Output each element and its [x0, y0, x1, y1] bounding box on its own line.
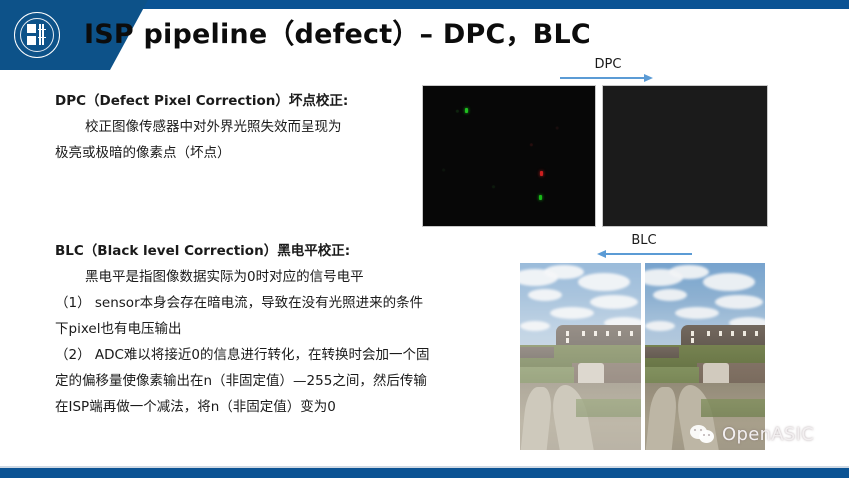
- dpc-arrow-label: DPC: [560, 57, 656, 73]
- defect-pixel-green-2: [539, 195, 542, 200]
- blc-line-3: 下pixel也有电压输出: [55, 316, 520, 342]
- blc-text-block: BLC（Black level Correction）黑电平校正: 黑电平是指图…: [55, 238, 520, 420]
- slide-canvas: ISP pipeline（defect）– DPC，BLC DPC（Defect…: [0, 0, 849, 478]
- dpc-arrow-group: DPC: [560, 57, 656, 83]
- blc-line-6: 在ISP端再做一个减法，将n（非固定值）变为0: [55, 394, 520, 420]
- defect-pixel-red-1: [540, 171, 543, 176]
- seal-glyph: [27, 24, 47, 46]
- blc-heading: BLC（Black level Correction）黑电平校正:: [55, 238, 520, 264]
- footer-bottom-bar: [0, 468, 849, 478]
- blc-arrow-label: BLC: [596, 233, 692, 249]
- page-title: ISP pipeline（defect）– DPC，BLC: [84, 12, 591, 51]
- arrow-right-icon: [560, 73, 656, 83]
- sensor-dark-frame-corrected: [602, 85, 768, 227]
- landscape-photo-raised-black-level: [520, 263, 641, 450]
- blc-line-1: 黑电平是指图像数据实际为0时对应的信号电平: [55, 264, 520, 290]
- university-seal-icon: [14, 12, 60, 58]
- dpc-text-block: DPC（Defect Pixel Correction）坏点校正: 校正图像传感…: [55, 88, 415, 166]
- dpc-line-2: 极亮或极暗的像素点（坏点）: [55, 140, 415, 166]
- landscape-photo-black-level-corrected: [645, 263, 765, 450]
- watermark-text: OpenASIC: [722, 424, 814, 445]
- watermark-branding: OpenASIC: [690, 424, 814, 445]
- blc-line-4: （2） ADC难以将接近0的信息进行转化，在转换时会加一个固: [55, 342, 520, 368]
- sensor-dark-frame-with-defect-pixels: [422, 85, 596, 227]
- defect-pixel-green-1: [465, 108, 468, 113]
- blc-arrow-group: BLC: [596, 233, 692, 259]
- dpc-heading: DPC（Defect Pixel Correction）坏点校正:: [55, 88, 415, 114]
- blc-line-2: （1） sensor本身会存在暗电流，导致在没有光照进来的条件: [55, 290, 520, 316]
- arrow-left-icon: [596, 249, 692, 259]
- dpc-line-1: 校正图像传感器中对外界光照失效而呈现为: [55, 114, 415, 140]
- wechat-icon: [690, 425, 716, 445]
- blc-line-5: 定的偏移量使像素输出在n（非固定值）—255之间，然后传输: [55, 368, 520, 394]
